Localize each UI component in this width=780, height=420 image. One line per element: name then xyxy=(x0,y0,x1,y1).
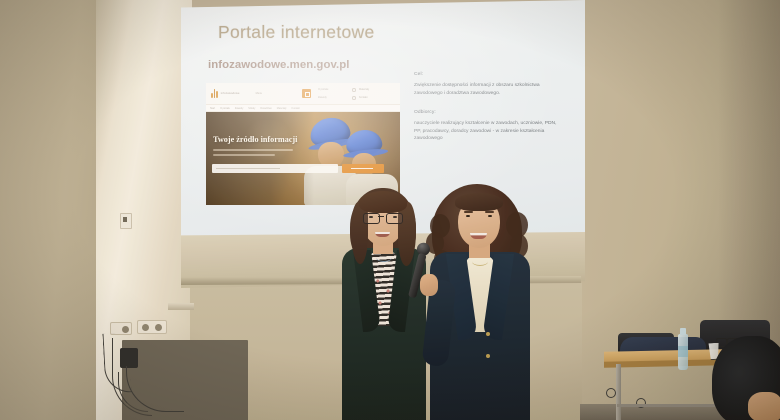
nav-item: O portalu xyxy=(220,107,230,110)
header-link: Kontakt xyxy=(359,96,367,99)
slide-text-column: Cel: Zwiększenie dostępności informacji … xyxy=(414,72,564,156)
slide-url: infozawodowe.men.gov.pl xyxy=(208,59,349,71)
eyebrow xyxy=(485,211,494,213)
necklace xyxy=(376,253,392,262)
nav-item: Zawody xyxy=(235,107,243,110)
slide-section-body: nauczyciele realizujący kształcenie w za… xyxy=(414,120,564,143)
header-link: Materiały xyxy=(359,88,369,91)
chair-wheel xyxy=(606,388,616,398)
website-nav: Start O portalu Zawody Szkoły Doradztwo … xyxy=(206,105,400,112)
header-link: O portalu xyxy=(318,88,328,91)
left-wall xyxy=(0,0,98,420)
header-icon xyxy=(352,88,356,92)
presenter-right xyxy=(424,184,536,420)
search-input[interactable] xyxy=(212,164,338,173)
eyeglasses-icon xyxy=(363,213,403,222)
website-header: infozawodowe Menu O portalu Zawody Mater… xyxy=(206,83,400,105)
portal-logo-label: infozawodowe xyxy=(221,92,240,95)
foreground-hand xyxy=(748,392,780,420)
hair-fringe xyxy=(359,191,407,213)
hero-subtext-line xyxy=(213,154,275,156)
hero-heading: Twoje źródło informacji xyxy=(213,135,297,144)
hair-fringe xyxy=(455,193,503,211)
nav-item: Start xyxy=(210,107,215,110)
eyebrow xyxy=(464,211,473,213)
website-menu-label: Menu xyxy=(256,92,263,95)
portal-logo-icon xyxy=(211,89,218,98)
light-switch-icon[interactable] xyxy=(120,213,132,229)
necklace xyxy=(472,257,488,266)
eyeglasses-bridge xyxy=(378,216,384,217)
search-button[interactable] xyxy=(342,164,384,173)
table-leg xyxy=(616,364,621,420)
header-icon xyxy=(352,96,356,100)
nav-item: Kontakt xyxy=(291,107,299,110)
presenter-left xyxy=(336,186,432,420)
conference-room-photo: Portale internetowe infozawodowe.men.gov… xyxy=(0,0,780,420)
hand xyxy=(420,274,438,296)
power-socket xyxy=(137,320,167,334)
hero-overlay xyxy=(206,112,314,205)
wall-shelf xyxy=(168,303,194,310)
slide-section-body: Zwiększenie dostępności informacji z obs… xyxy=(414,82,564,97)
water-bottle xyxy=(678,334,688,370)
nav-item: Materiały xyxy=(277,107,287,110)
hero-subtext-line xyxy=(213,149,293,151)
slide-section-heading: Cel: xyxy=(414,72,564,77)
nav-item: Doradztwo xyxy=(260,107,271,110)
website-badge-icon xyxy=(302,89,311,98)
slide-section-heading: Odbiorcy: xyxy=(414,110,564,115)
nav-item: Szkoły xyxy=(248,107,255,110)
slide-title: Portale internetowe xyxy=(218,22,374,43)
header-link: Zawody xyxy=(318,96,327,99)
